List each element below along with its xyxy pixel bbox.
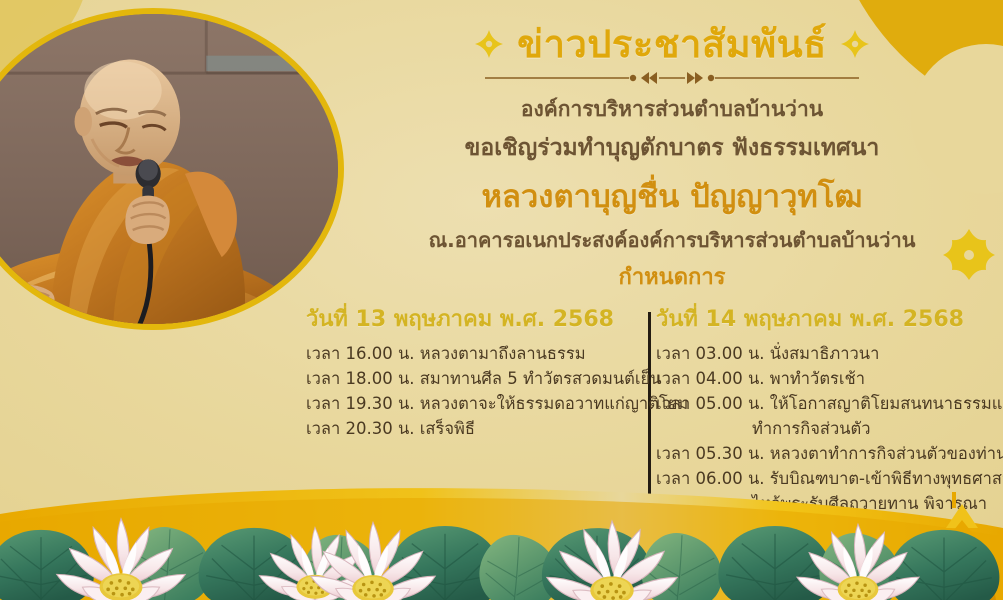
monk-photo — [0, 8, 344, 330]
schedule-item: เวลา 18.00 น. สมาทานศีล 5 ทำวัตรสวดมนต์เ… — [292, 366, 626, 391]
schedule-item: เวลา 20.30 น. เสร็จพิธี — [292, 416, 626, 441]
schedule-item: เวลา 05.30 น. หลวงตาทำการกิจส่วนตัวของท่… — [656, 441, 992, 466]
schedule-item: เวลา 19.30 น. หลวงตาจะให้ธรรมดอวาทแก่ญาต… — [292, 391, 626, 416]
poster-header: ข่าวประชาสัมพันธ์ — [352, 22, 992, 293]
schedule-item: เวลา 16.00 น. หลวงตามาถึงลานธรรม — [292, 341, 626, 366]
page-title: ข่าวประชาสัมพันธ์ — [517, 22, 827, 67]
announcement-poster: ข่าวประชาสัมพันธ์ — [0, 0, 1003, 600]
diamond-ornament-left-icon — [475, 30, 503, 58]
invitation-line: ขอเชิญร่วมทำบุญตักบาตร ฟังธรรมเทศนา — [352, 131, 992, 166]
ornamental-divider-icon — [481, 70, 863, 86]
organization-name: องค์การบริหารส่วนตำบลบ้านว่าน — [352, 94, 992, 126]
schedule-column-day1: วันที่ 13 พฤษภาคม พ.ศ. 2568 เวลา 16.00 น… — [292, 306, 642, 441]
date-heading-day2: วันที่ 14 พฤษภาคม พ.ศ. 2568 — [656, 306, 992, 335]
agenda-label: กำหนดการ — [352, 263, 992, 293]
lotus-border-decoration — [0, 480, 1003, 600]
schedule-item: เวลา 04.00 น. พาทำวัตรเช้า — [656, 366, 992, 391]
schedule-item: เวลา 05.00 น. ให้โอกาสญาติโยมสนทนาธรรมแล… — [656, 391, 992, 416]
monk-name: หลวงตาบุญชื่น ปัญญาวุทโฒ — [352, 176, 992, 219]
schedule-item: ทำการกิจส่วนตัว — [656, 416, 992, 441]
date-heading-day1: วันที่ 13 พฤษภาคม พ.ศ. 2568 — [292, 306, 626, 335]
venue-line: ณ.อาคารอเนกประสงค์องค์การบริหารส่วนตำบลบ… — [352, 226, 992, 255]
schedule-item: เวลา 03.00 น. นั่งสมาธิภาวนา — [656, 341, 992, 366]
title-row: ข่าวประชาสัมพันธ์ — [352, 22, 992, 67]
diamond-ornament-right-icon — [841, 30, 869, 58]
